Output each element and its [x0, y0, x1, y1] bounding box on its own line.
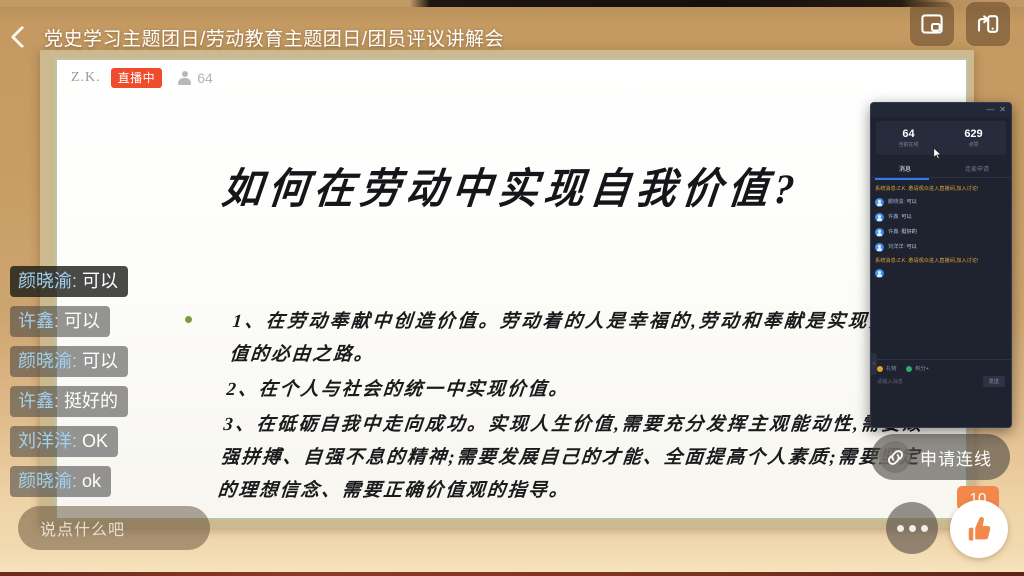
stat-online: 64 当前在线 — [876, 121, 941, 155]
panel-message: 颜晓渝: 可以 — [875, 198, 1007, 207]
ceiling-shadow — [0, 0, 1024, 7]
panel-message — [875, 269, 1007, 278]
stat-value: 64 — [902, 129, 914, 140]
chat-message: 许鑫: 可以 — [10, 306, 110, 337]
avatar — [875, 198, 884, 207]
more-dots-icon — [897, 525, 904, 532]
close-icon[interactable]: ✕ — [999, 106, 1006, 114]
panel-message-text: 挺好的 — [901, 229, 917, 235]
chat-message-user: 刘洋洋 — [18, 431, 72, 451]
avatar — [875, 269, 884, 278]
panel-message: 许鑫: 挺好的 — [875, 228, 1007, 237]
chat-message-text: 可以 — [64, 311, 100, 331]
slide-body-line: 3、在砥砺自我中走向成功。实现人生价值,需要充分发挥主观能动性,需要顽强拼搏、自… — [216, 409, 925, 508]
system-notice: 系统消息:Z.K. 邀请观众进入直播间,加入讨论! — [875, 258, 1007, 266]
avatar — [875, 228, 884, 237]
chat-message: 刘洋洋: OK — [10, 426, 118, 457]
chat-message-user: 许鑫 — [18, 391, 54, 411]
points-dot-icon — [906, 366, 912, 372]
panel-message-user: 许鑫 — [888, 214, 898, 220]
panel-send-button[interactable]: 发送 — [983, 376, 1005, 387]
panel-message-user: 许鑫 — [888, 229, 898, 235]
panel-message-list[interactable]: 系统消息:Z.K. 邀请观众进入直播间,加入讨论! 颜晓渝: 可以 许鑫: 可以… — [871, 180, 1011, 359]
gift-action[interactable]: 礼物 — [877, 365, 896, 372]
panel-message-user: 颜晓渝 — [888, 199, 904, 205]
chat-input-placeholder: 说点什么吧 — [40, 516, 125, 540]
panel-message-user: 刘洋洋 — [888, 244, 904, 250]
stream-meta-bar: Z.K. 直播中 64 — [71, 68, 213, 88]
live-console-panel[interactable]: — ✕ 64 当前在线 629 点赞 消息 连麦申请 系统消息:Z.K. 邀请观… — [870, 102, 1012, 428]
chat-message-text: 可以 — [82, 351, 118, 371]
slide-body-line: 1、在劳动奉献中创造价值。劳动着的人是幸福的,劳动和奉献是实现人生价值的必由之路… — [228, 306, 934, 372]
chat-message-user: 颜晓渝 — [18, 351, 72, 371]
chat-input[interactable]: 说点什么吧 — [18, 506, 210, 550]
chat-colon: : — [72, 271, 82, 291]
more-dots-icon — [921, 525, 928, 532]
stat-value: 629 — [964, 129, 982, 140]
panel-collapse-handle[interactable]: ‹ — [871, 353, 877, 375]
panel-composer: 请输入消息 发送 — [871, 376, 1011, 392]
chat-colon: : — [72, 431, 82, 451]
chat-message-user: 许鑫 — [18, 311, 54, 331]
viewer-count-group: 64 — [178, 70, 213, 86]
chat-message: 颜晓渝: 可以 — [10, 346, 128, 377]
chat-message-user: 颜晓渝 — [18, 471, 72, 491]
danmaku-chat-stream: 颜晓渝: 可以 许鑫: 可以 颜晓渝: 可以 许鑫: 挺好的 刘洋洋: OK 颜… — [10, 266, 310, 506]
panel-message-body: 颜晓渝: 可以 — [888, 198, 917, 207]
chat-message-user: 颜晓渝 — [18, 271, 72, 291]
minimize-icon[interactable]: — — [986, 106, 994, 114]
breadcrumb: 党史学习主题团日/劳动教育主题团日/团员评议讲解会 — [44, 24, 504, 51]
screen-cast-icon — [977, 14, 999, 34]
panel-message-body: 许鑫: 可以 — [888, 213, 912, 222]
panel-title-bar: — ✕ — [871, 103, 1011, 117]
slide-body: 1、在劳动奉献中创造价值。劳动着的人是幸福的,劳动和奉献是实现人生价值的必由之路… — [216, 306, 934, 510]
apply-connect-button[interactable]: 申请连线 — [871, 434, 1010, 480]
link-chain-icon — [879, 441, 911, 473]
chat-message-text: 可以 — [82, 271, 118, 291]
top-navigation-bar: 党史学习主题团日/劳动教育主题团日/团员评议讲解会 — [0, 14, 1024, 60]
gift-dot-icon — [877, 366, 883, 372]
chat-message: 颜晓渝: 可以 — [10, 266, 128, 297]
avatar — [875, 243, 884, 252]
panel-message-text: 可以 — [906, 244, 916, 250]
slide-title: 如何在劳动中实现自我价值? — [54, 155, 969, 216]
more-dots-icon — [909, 525, 916, 532]
viewer-count: 64 — [197, 70, 213, 86]
picture-in-picture-icon — [921, 14, 943, 34]
picture-in-picture-button[interactable] — [910, 2, 954, 46]
more-options-button[interactable] — [886, 502, 938, 554]
slide-body-line: 2、在个人与社会的统一中实现价值。 — [225, 374, 928, 407]
screen-cast-button[interactable] — [966, 2, 1010, 46]
avatar — [875, 213, 884, 222]
apply-connect-label: 申请连线 — [920, 445, 992, 470]
panel-message-body: 许鑫: 挺好的 — [888, 228, 917, 237]
chat-message-text: 挺好的 — [64, 391, 118, 411]
tab-messages[interactable]: 消息 — [875, 161, 935, 177]
system-notice: 系统消息:Z.K. 邀请观众进入直播间,加入讨论! — [875, 186, 1007, 194]
points-action[interactable]: 积分+ — [906, 365, 928, 372]
panel-tabs: 消息 连麦申请 — [871, 161, 1011, 178]
live-status-badge: 直播中 — [111, 68, 163, 88]
stat-label: 点赞 — [968, 142, 978, 148]
stat-label: 当前在线 — [898, 142, 918, 148]
link-chain-glyph — [885, 447, 906, 468]
stat-likes: 629 点赞 — [941, 121, 1006, 155]
thumbs-up-icon — [964, 514, 994, 544]
panel-message-text: 可以 — [901, 214, 911, 220]
panel-message-input[interactable]: 请输入消息 — [877, 378, 903, 385]
floor-edge-line — [0, 572, 1024, 576]
person-icon — [178, 71, 191, 85]
back-button[interactable] — [0, 15, 44, 59]
panel-message-text: 可以 — [906, 199, 916, 205]
chat-message-text: OK — [82, 431, 108, 451]
panel-message: 许鑫: 可以 — [875, 213, 1007, 222]
chat-message-text: ok — [82, 471, 101, 491]
chevron-left-icon — [11, 26, 34, 49]
panel-message-body: 刘洋洋: 可以 — [888, 243, 917, 252]
panel-stats: 64 当前在线 629 点赞 — [876, 121, 1006, 155]
gift-label: 礼物 — [886, 365, 896, 372]
chat-colon: : — [54, 391, 64, 411]
chat-message: 颜晓渝: ok — [10, 466, 111, 497]
chat-colon: : — [72, 471, 82, 491]
panel-action-row: 礼物 积分+ — [871, 359, 1011, 376]
chat-colon: : — [72, 351, 82, 371]
top-right-toolbar — [910, 2, 1010, 46]
points-label: 积分+ — [915, 365, 928, 372]
panel-message: 刘洋洋: 可以 — [875, 243, 1007, 252]
like-button[interactable] — [950, 500, 1008, 558]
chat-colon: : — [54, 311, 64, 331]
chat-message: 许鑫: 挺好的 — [10, 386, 128, 417]
tab-connect-requests[interactable]: 连麦申请 — [947, 161, 1007, 177]
presenter-name: Z.K. — [71, 70, 101, 86]
